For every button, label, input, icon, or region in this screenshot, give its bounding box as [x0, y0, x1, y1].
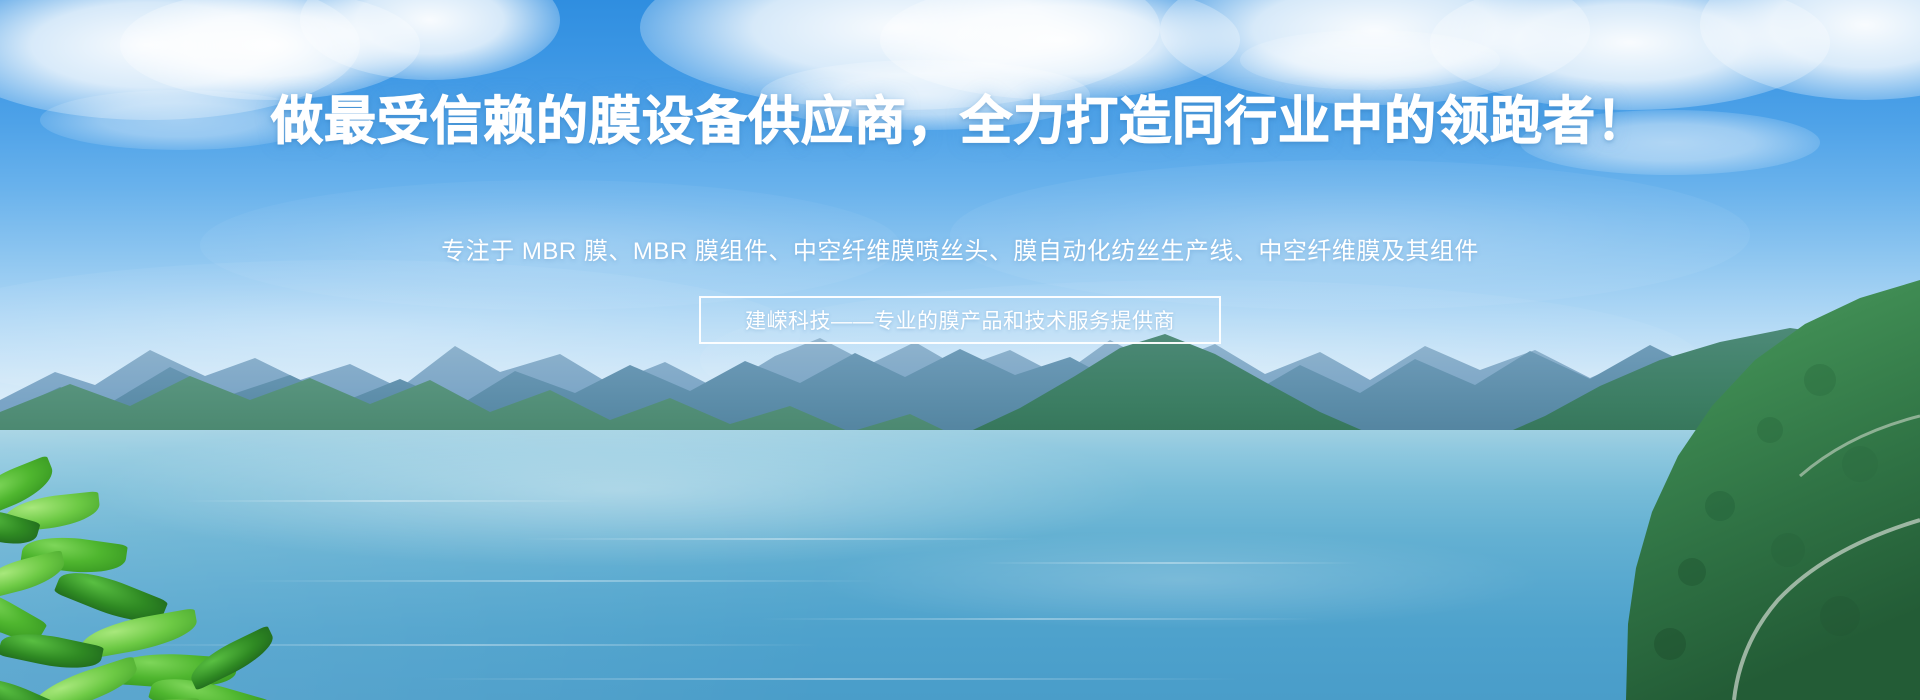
company-tagline-box: 建嵘科技——专业的膜产品和技术服务提供商 [699, 296, 1221, 344]
tagline-container: 建嵘科技——专业的膜产品和技术服务提供商 [0, 296, 1920, 344]
banner-text-content: 做最受信赖的膜设备供应商，全力打造同行业中的领跑者！ 专注于 MBR 膜、MBR… [0, 0, 1920, 700]
banner-headline: 做最受信赖的膜设备供应商，全力打造同行业中的领跑者！ [0, 96, 1920, 148]
banner-subheadline: 专注于 MBR 膜、MBR 膜组件、中空纤维膜喷丝头、膜自动化纺丝生产线、中空纤… [0, 231, 1920, 266]
hero-banner: 做最受信赖的膜设备供应商，全力打造同行业中的领跑者！ 专注于 MBR 膜、MBR… [0, 0, 1920, 700]
